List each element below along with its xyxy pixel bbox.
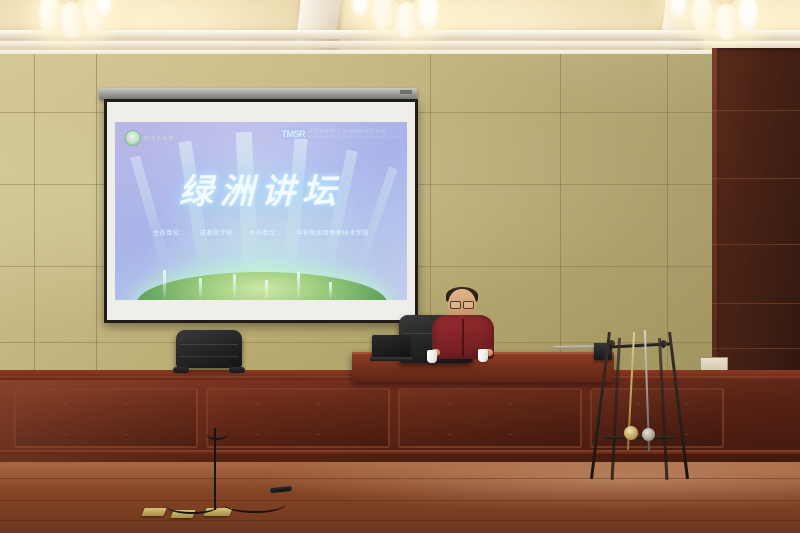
host-name: 中科院应用物理技术学院 bbox=[296, 231, 369, 237]
university-seal-icon bbox=[125, 130, 141, 146]
crown-molding bbox=[0, 41, 800, 48]
tmsr-mark: TMSR bbox=[282, 129, 306, 139]
cable-loop bbox=[206, 428, 228, 440]
institute-logo: TMSR 中国科学院上海应用物理研究所 SHANGHAI INSTITUTE O… bbox=[282, 129, 398, 140]
university-logo-text: 石河子大学 bbox=[144, 135, 175, 142]
floor-outlet-1 bbox=[141, 508, 166, 516]
wooden-door[interactable] bbox=[712, 48, 800, 388]
laptop[interactable] bbox=[370, 335, 412, 361]
organizer-label: 主办单位： bbox=[153, 231, 186, 237]
erhu-body-right bbox=[642, 428, 655, 441]
instrument-stand bbox=[602, 330, 678, 480]
cup-right[interactable] bbox=[478, 349, 488, 362]
university-logo: 石河子大学 bbox=[125, 130, 175, 146]
cup-left[interactable] bbox=[427, 350, 437, 363]
projected-slide: 石河子大学 TMSR 中国科学院上海应用物理研究所 SHANGHAI INSTI… bbox=[115, 122, 407, 300]
glasses-icon bbox=[450, 301, 474, 307]
host-label: 承办单位： bbox=[249, 231, 282, 237]
cable-run-left bbox=[166, 498, 218, 514]
slide-subtitle: 主办单位：成教院学院 承办单位：中科院应用物理技术学院 bbox=[115, 228, 407, 237]
ceiling bbox=[0, 0, 800, 62]
chair-left[interactable] bbox=[176, 330, 242, 368]
organizer-name: 成教院学院 bbox=[200, 231, 233, 237]
wood-floor bbox=[0, 462, 800, 533]
institute-name-en: SHANGHAI INSTITUTE OF APPLIED PHYSICS, C… bbox=[308, 135, 398, 139]
cable-run-right bbox=[224, 495, 286, 513]
mic-cable bbox=[214, 428, 216, 510]
projection-screen: 石河子大学 TMSR 中国科学院上海应用物理研究所 SHANGHAI INSTI… bbox=[104, 99, 418, 323]
slide-main-title: 绿洲讲坛 bbox=[115, 164, 407, 213]
erhu-body-left bbox=[624, 426, 638, 440]
lecture-hall-photo: 石河子大学 TMSR 中国科学院上海应用物理研究所 SHANGHAI INSTI… bbox=[0, 0, 800, 533]
